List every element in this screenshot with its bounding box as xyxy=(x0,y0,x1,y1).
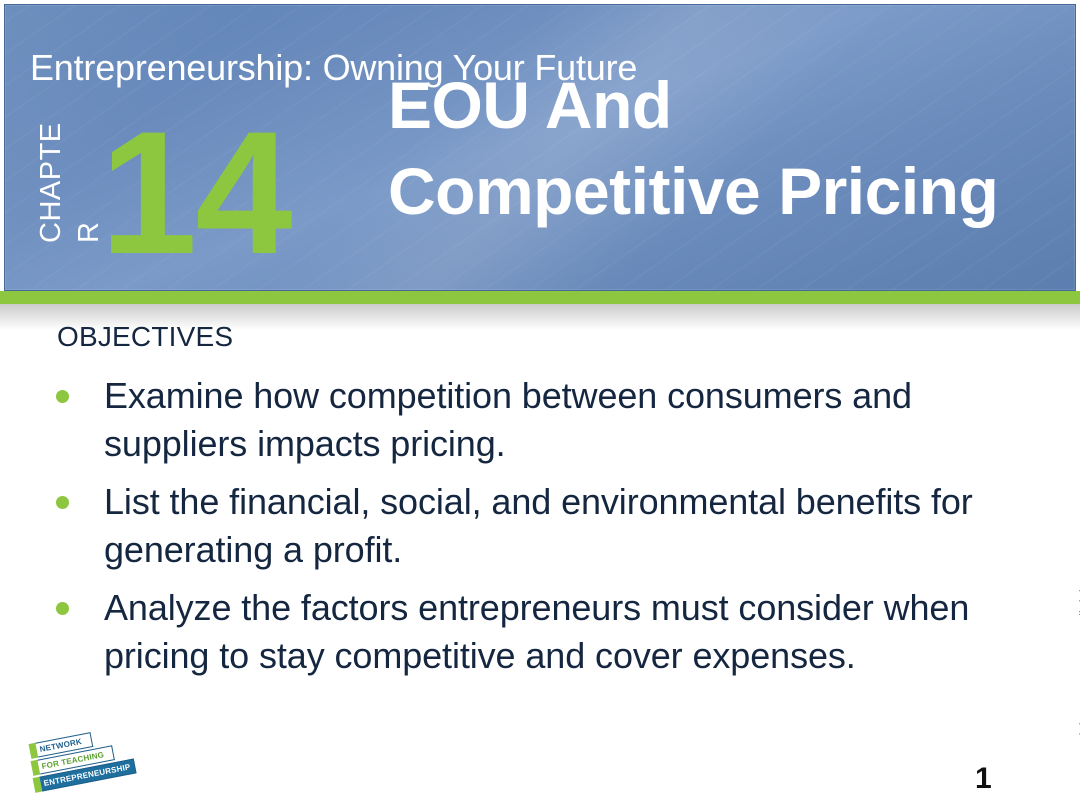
bullet-dot-icon xyxy=(56,496,69,509)
green-divider-bar xyxy=(0,291,1080,304)
chapter-word-label: CHAPTER xyxy=(32,103,108,253)
logo-text-line1: NETWORK xyxy=(39,738,82,754)
objectives-heading: OBJECTIVES xyxy=(57,320,233,354)
chapter-word-text: CHAPTER xyxy=(32,113,108,243)
objectives-list: Examine how competition between consumer… xyxy=(44,372,984,690)
bullet-dot-icon xyxy=(56,602,69,615)
list-item-text: Examine how competition between consumer… xyxy=(104,372,984,468)
slide-page-number: 1 xyxy=(975,762,992,796)
list-item: Analyze the factors entrepreneurs must c… xyxy=(44,584,984,680)
chapter-number: 14 xyxy=(100,106,291,281)
slide-title: EOU And Competitive Pricing xyxy=(388,62,1048,234)
list-item: Examine how competition between consumer… xyxy=(44,372,984,468)
bullet-dot-icon xyxy=(56,390,69,403)
copyright-notice: Copyright © NFTE 2016. All rights reserv… xyxy=(1076,520,1080,770)
copyright-text: Copyright © NFTE 2016. All rights reserv… xyxy=(1076,530,1080,770)
list-item-text: Analyze the factors entrepreneurs must c… xyxy=(104,584,984,680)
list-item: List the financial, social, and environm… xyxy=(44,478,984,574)
nfte-logo: NETWORK FOR TEACHING ENTREPRENEURSHIP xyxy=(28,736,140,798)
list-item-text: List the financial, social, and environm… xyxy=(104,478,984,574)
presentation-slide: Entrepreneurship: Owning Your Future CHA… xyxy=(0,0,1080,810)
